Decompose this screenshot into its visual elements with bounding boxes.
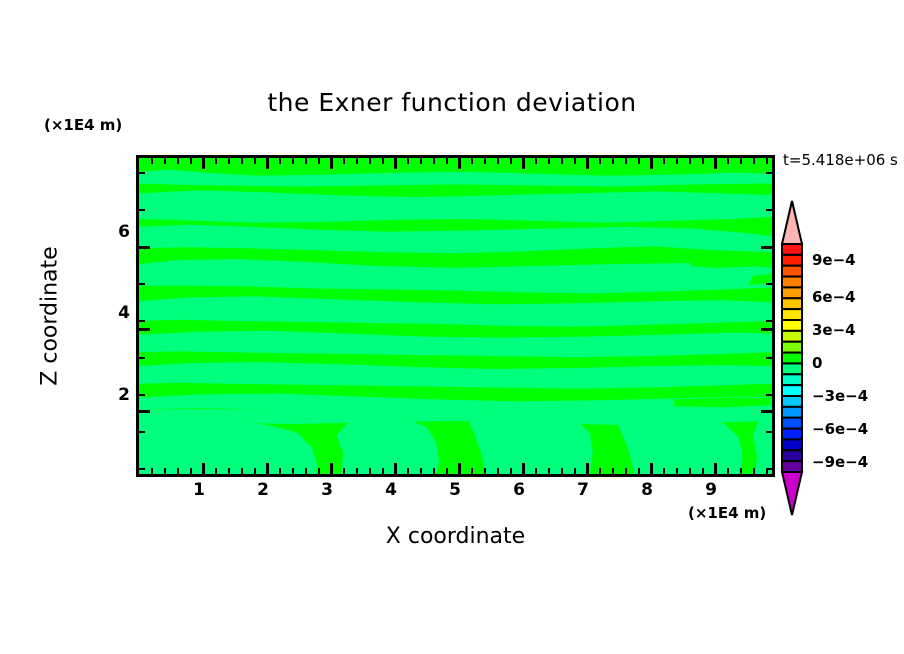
x-minor-tick: [638, 468, 640, 474]
x-minor-tick-top: [676, 158, 678, 164]
x-minor-tick-top: [599, 158, 601, 164]
x-minor-tick-top: [497, 158, 499, 164]
x-minor-tick: [279, 468, 281, 474]
x-minor-tick: [177, 468, 179, 474]
x-major-tick-top: [586, 158, 589, 169]
colorbar-tick-label: 6e−4: [812, 288, 856, 306]
x-major-tick: [330, 463, 333, 474]
x-minor-tick: [484, 468, 486, 474]
y-minor-tick: [139, 283, 145, 285]
x-minor-tick-top: [228, 158, 230, 164]
x-minor-tick-top: [369, 158, 371, 164]
x-major-tick-top: [266, 158, 269, 169]
x-minor-tick-top: [382, 158, 384, 164]
x-minor-tick-top: [535, 158, 537, 164]
x-minor-tick-top: [446, 158, 448, 164]
colorbar-tick-label: 9e−4: [812, 251, 856, 269]
x-minor-tick: [164, 468, 166, 474]
x-minor-tick-top: [727, 158, 729, 164]
x-minor-tick-top: [574, 158, 576, 164]
figure-canvas: the Exner function deviation (×1E4 m): [0, 0, 904, 654]
x-minor-tick: [548, 468, 550, 474]
x-minor-tick: [433, 468, 435, 474]
x-major-tick: [458, 463, 461, 474]
x-major-tick-top: [330, 158, 333, 169]
x-axis-title: X coordinate: [136, 524, 775, 549]
colorbar-tick-label: 0: [812, 354, 822, 372]
x-minor-tick-top: [407, 158, 409, 164]
y-minor-tick-right: [766, 320, 772, 322]
y-major-tick: [139, 410, 150, 413]
x-minor-tick-top: [766, 158, 768, 164]
x-minor-tick-top: [433, 158, 435, 164]
x-minor-tick-top: [292, 158, 294, 164]
x-axis-units-label: (×1E4 m): [688, 504, 766, 522]
y-minor-tick: [139, 431, 145, 433]
x-minor-tick-top: [356, 158, 358, 164]
contour-field: [139, 158, 772, 474]
y-minor-tick-right: [766, 394, 772, 396]
x-tick-label: 4: [385, 480, 397, 500]
x-minor-tick: [689, 468, 691, 474]
y-minor-tick-right: [766, 172, 772, 174]
x-minor-tick-top: [254, 158, 256, 164]
x-major-tick: [522, 463, 525, 474]
y-major-tick-right: [761, 246, 772, 249]
x-minor-tick-top: [215, 158, 217, 164]
x-minor-tick: [151, 468, 153, 474]
y-major-tick-right: [761, 328, 772, 331]
x-minor-tick-top: [740, 158, 742, 164]
x-minor-tick: [356, 468, 358, 474]
x-major-tick: [586, 463, 589, 474]
x-minor-tick-top: [164, 158, 166, 164]
timestamp-annotation: t=5.418e+06 s: [783, 151, 898, 169]
x-minor-tick-top: [702, 158, 704, 164]
x-minor-tick-top: [420, 158, 422, 164]
x-tick-label: 1: [193, 480, 205, 500]
x-minor-tick: [612, 468, 614, 474]
x-minor-tick-top: [471, 158, 473, 164]
x-minor-tick: [702, 468, 704, 474]
x-minor-tick: [753, 468, 755, 474]
x-minor-tick: [254, 468, 256, 474]
colorbar-tick-label: −6e−4: [812, 420, 868, 438]
colorbar-swatches: [779, 200, 805, 516]
y-axis-units-label: (×1E4 m): [44, 116, 122, 134]
x-minor-tick-top: [625, 158, 627, 164]
x-minor-tick: [727, 468, 729, 474]
x-tick-label: 5: [449, 480, 461, 500]
x-minor-tick: [535, 468, 537, 474]
y-minor-tick: [139, 209, 145, 211]
x-minor-tick: [497, 468, 499, 474]
y-major-tick-right: [761, 410, 772, 413]
x-minor-tick: [446, 468, 448, 474]
y-tick-label: 4: [118, 303, 130, 323]
x-minor-tick: [382, 468, 384, 474]
x-minor-tick-top: [305, 158, 307, 164]
y-minor-tick-right: [766, 431, 772, 433]
x-minor-tick: [510, 468, 512, 474]
colorbar-tick-label: −9e−4: [812, 453, 868, 471]
x-minor-tick-top: [318, 158, 320, 164]
x-tick-label: 3: [321, 480, 333, 500]
y-minor-tick: [139, 468, 145, 470]
x-minor-tick: [599, 468, 601, 474]
x-minor-tick-top: [753, 158, 755, 164]
x-minor-tick-top: [561, 158, 563, 164]
x-minor-tick-top: [548, 158, 550, 164]
x-minor-tick-top: [151, 158, 153, 164]
y-major-tick: [139, 328, 150, 331]
x-minor-tick: [663, 468, 665, 474]
y-minor-tick-right: [766, 283, 772, 285]
x-minor-tick-top: [241, 158, 243, 164]
x-minor-tick: [215, 468, 217, 474]
x-minor-tick: [343, 468, 345, 474]
y-tick-label: 6: [118, 222, 130, 242]
x-minor-tick-top: [689, 158, 691, 164]
x-major-tick: [650, 463, 653, 474]
x-minor-tick: [574, 468, 576, 474]
x-minor-tick: [420, 468, 422, 474]
x-minor-tick: [292, 468, 294, 474]
plot-area: [136, 155, 775, 477]
x-minor-tick: [305, 468, 307, 474]
y-major-tick: [139, 246, 150, 249]
colorbar-tick-label: 3e−4: [812, 321, 856, 339]
y-axis-title: Z coordinate: [38, 246, 63, 385]
x-minor-tick: [471, 468, 473, 474]
x-minor-tick-top: [638, 158, 640, 164]
x-major-tick-top: [522, 158, 525, 169]
y-minor-tick: [139, 357, 145, 359]
x-minor-tick: [369, 468, 371, 474]
x-minor-tick: [625, 468, 627, 474]
x-minor-tick: [676, 468, 678, 474]
x-tick-label: 2: [257, 480, 269, 500]
x-major-tick-top: [650, 158, 653, 169]
x-minor-tick: [407, 468, 409, 474]
x-minor-tick: [190, 468, 192, 474]
x-tick-label: 9: [705, 480, 717, 500]
x-minor-tick: [561, 468, 563, 474]
x-minor-tick-top: [663, 158, 665, 164]
x-tick-label: 8: [641, 480, 653, 500]
x-major-tick: [202, 463, 205, 474]
x-major-tick: [714, 463, 717, 474]
x-minor-tick: [318, 468, 320, 474]
y-tick-label: 2: [118, 385, 130, 405]
x-major-tick-top: [202, 158, 205, 169]
x-minor-tick: [241, 468, 243, 474]
x-minor-tick-top: [484, 158, 486, 164]
x-major-tick: [266, 463, 269, 474]
x-major-tick-top: [394, 158, 397, 169]
x-minor-tick-top: [510, 158, 512, 164]
x-minor-tick: [228, 468, 230, 474]
colorbar-tick-label: −3e−4: [812, 387, 868, 405]
y-minor-tick-right: [766, 468, 772, 470]
chart-title: the Exner function deviation: [0, 88, 904, 117]
x-tick-label: 7: [577, 480, 589, 500]
x-minor-tick-top: [177, 158, 179, 164]
x-major-tick-top: [714, 158, 717, 169]
y-minor-tick-right: [766, 357, 772, 359]
x-tick-label: 6: [513, 480, 525, 500]
x-minor-tick-top: [612, 158, 614, 164]
y-minor-tick-right: [766, 209, 772, 211]
x-minor-tick-top: [190, 158, 192, 164]
x-minor-tick: [740, 468, 742, 474]
y-minor-tick: [139, 172, 145, 174]
x-minor-tick-top: [279, 158, 281, 164]
y-minor-tick: [139, 320, 145, 322]
colorbar: [779, 200, 805, 516]
x-major-tick-top: [458, 158, 461, 169]
x-minor-tick-top: [343, 158, 345, 164]
y-minor-tick: [139, 394, 145, 396]
x-major-tick: [394, 463, 397, 474]
